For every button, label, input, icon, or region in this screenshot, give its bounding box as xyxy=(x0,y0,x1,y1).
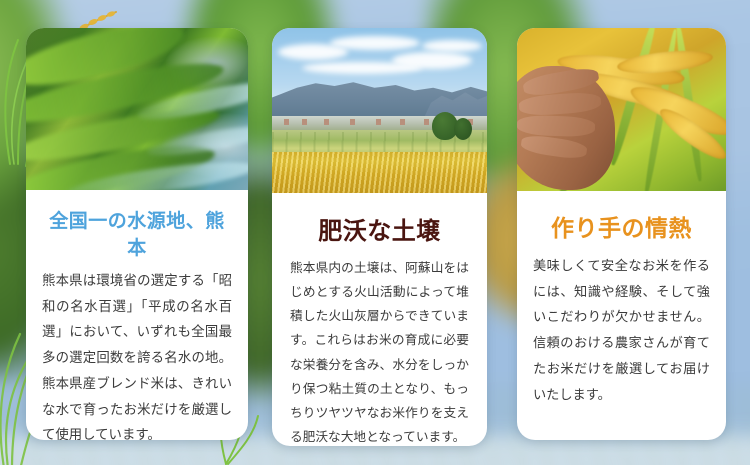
card-text-water-source: 熊本県は環境省の選定する「昭和の名水百選」「平成の名水百選」において、いずれも全… xyxy=(42,264,232,440)
card-title-fertile-soil: 肥沃な土壌 xyxy=(288,193,471,252)
card-body-fertile-soil: 肥沃な土壌 熊本県内の土壌は、阿蘇山をはじめとする火山活動によって堆積した火山灰… xyxy=(272,193,487,446)
card-title-water-source: 全国一の水源地、熊本 xyxy=(42,190,232,264)
card-title-farmer-passion: 作り手の情熱 xyxy=(533,191,710,249)
card-image-farmer-passion xyxy=(517,28,726,191)
card-body-water-source: 全国一の水源地、熊本 熊本県は環境省の選定する「昭和の名水百選」「平成の名水百選… xyxy=(26,190,248,440)
mossy-spring-water-photo xyxy=(26,28,248,190)
feature-card-water-source: 全国一の水源地、熊本 熊本県は環境省の選定する「昭和の名水百選」「平成の名水百選… xyxy=(26,28,248,440)
card-body-farmer-passion: 作り手の情熱 美味しくて安全なお米を作るには、知識や経験、そして強いこだわりが欠… xyxy=(517,191,726,407)
card-image-fertile-soil xyxy=(272,28,487,193)
hands-holding-rice-ears-photo xyxy=(517,28,726,191)
mount-aso-rice-field-photo xyxy=(272,28,487,193)
feature-card-farmer-passion: 作り手の情熱 美味しくて安全なお米を作るには、知識や経験、そして強いこだわりが欠… xyxy=(517,28,726,440)
card-text-fertile-soil: 熊本県内の土壌は、阿蘇山をはじめとする火山活動によって堆積した火山灰層からできて… xyxy=(288,252,471,446)
card-text-farmer-passion: 美味しくて安全なお米を作るには、知識や経験、そして強いこだわりが欠かせません。信… xyxy=(533,249,710,407)
feature-card-fertile-soil: 肥沃な土壌 熊本県内の土壌は、阿蘇山をはじめとする火山活動によって堆積した火山灰… xyxy=(272,28,487,446)
feature-cards-section: 全国一の水源地、熊本 熊本県は環境省の選定する「昭和の名水百選」「平成の名水百選… xyxy=(0,0,750,465)
card-image-water-source xyxy=(26,28,248,190)
